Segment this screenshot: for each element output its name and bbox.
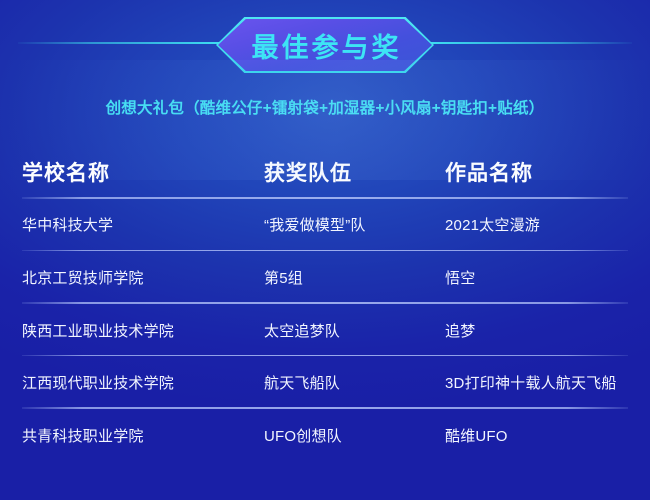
table-row: 北京工贸技师学院 第5组 悟空 xyxy=(0,251,650,304)
cell-team: 航天飞船队 xyxy=(264,372,445,393)
column-header-work: 作品名称 xyxy=(445,157,628,187)
cell-team: UFO创想队 xyxy=(264,425,445,446)
cell-work: 追梦 xyxy=(445,320,628,341)
award-title: 最佳参与奖 xyxy=(216,17,434,73)
table-header-row: 学校名称 获奖队伍 作品名称 xyxy=(0,146,650,199)
cell-school: 江西现代职业技术学院 xyxy=(22,372,264,393)
cell-work: 2021太空漫游 xyxy=(445,214,628,235)
cell-school: 北京工贸技师学院 xyxy=(22,267,264,288)
table-row: 共青科技职业学院 UFO创想队 酷维UFO xyxy=(0,409,650,462)
banner-rule-right xyxy=(426,42,632,44)
table-row: 华中科技大学 “我爱做模型”队 2021太空漫游 xyxy=(0,199,650,252)
cell-school: 共青科技职业学院 xyxy=(22,425,264,446)
prize-description: 创想大礼包（酷维公仔+镭射袋+加湿器+小风扇+钥匙扣+贴纸） xyxy=(0,96,650,118)
table-row: 陕西工业职业技术学院 太空追梦队 追梦 xyxy=(0,304,650,357)
cell-school: 华中科技大学 xyxy=(22,214,264,235)
cell-school: 陕西工业职业技术学院 xyxy=(22,320,264,341)
award-poster: 最佳参与奖 创想大礼包（酷维公仔+镭射袋+加湿器+小风扇+钥匙扣+贴纸） 学校名… xyxy=(0,0,650,500)
cell-work: 酷维UFO xyxy=(445,425,628,446)
cell-team: “我爱做模型”队 xyxy=(264,214,445,235)
cell-work: 悟空 xyxy=(445,267,628,288)
award-banner: 最佳参与奖 xyxy=(0,17,650,73)
table-row: 江西现代职业技术学院 航天飞船队 3D打印神十载人航天飞船 xyxy=(0,356,650,409)
column-header-team: 获奖队伍 xyxy=(264,157,445,187)
winners-table: 学校名称 获奖队伍 作品名称 华中科技大学 “我爱做模型”队 2021太空漫游 … xyxy=(0,146,650,462)
cell-work: 3D打印神十载人航天飞船 xyxy=(445,372,628,393)
column-header-school: 学校名称 xyxy=(22,157,264,187)
banner-rule-left xyxy=(18,42,224,44)
cell-team: 第5组 xyxy=(264,267,445,288)
cell-team: 太空追梦队 xyxy=(264,320,445,341)
